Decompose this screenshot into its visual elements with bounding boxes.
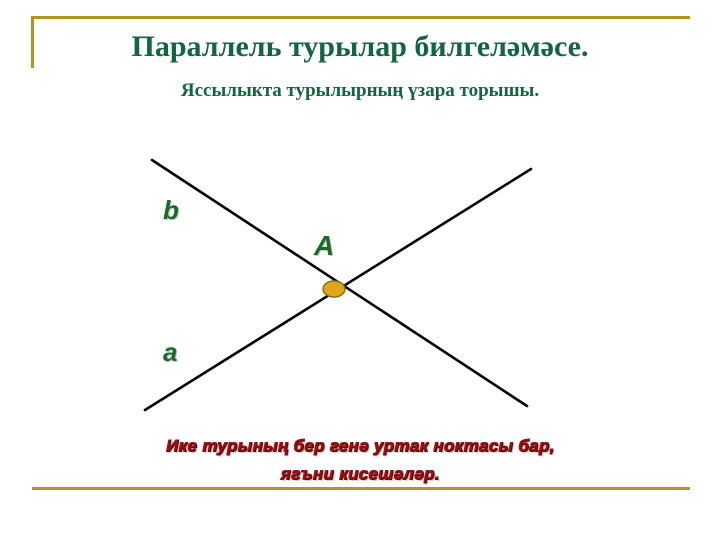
- label-line-b: b: [163, 195, 179, 226]
- slide-canvas: Параллель турылар билгеләмәсе. Яссылыкта…: [0, 0, 720, 540]
- caption-line-2: ягъни кисешәләр.: [0, 460, 720, 488]
- bottom-caption: Ике турының бер генә уртак ноктасы бар, …: [0, 432, 720, 488]
- caption-line-1: Ике турының бер генә уртак ноктасы бар,: [0, 432, 720, 460]
- intersection-point-marker: [323, 281, 345, 297]
- label-point-a: A: [314, 230, 334, 262]
- label-line-a: a: [163, 337, 177, 368]
